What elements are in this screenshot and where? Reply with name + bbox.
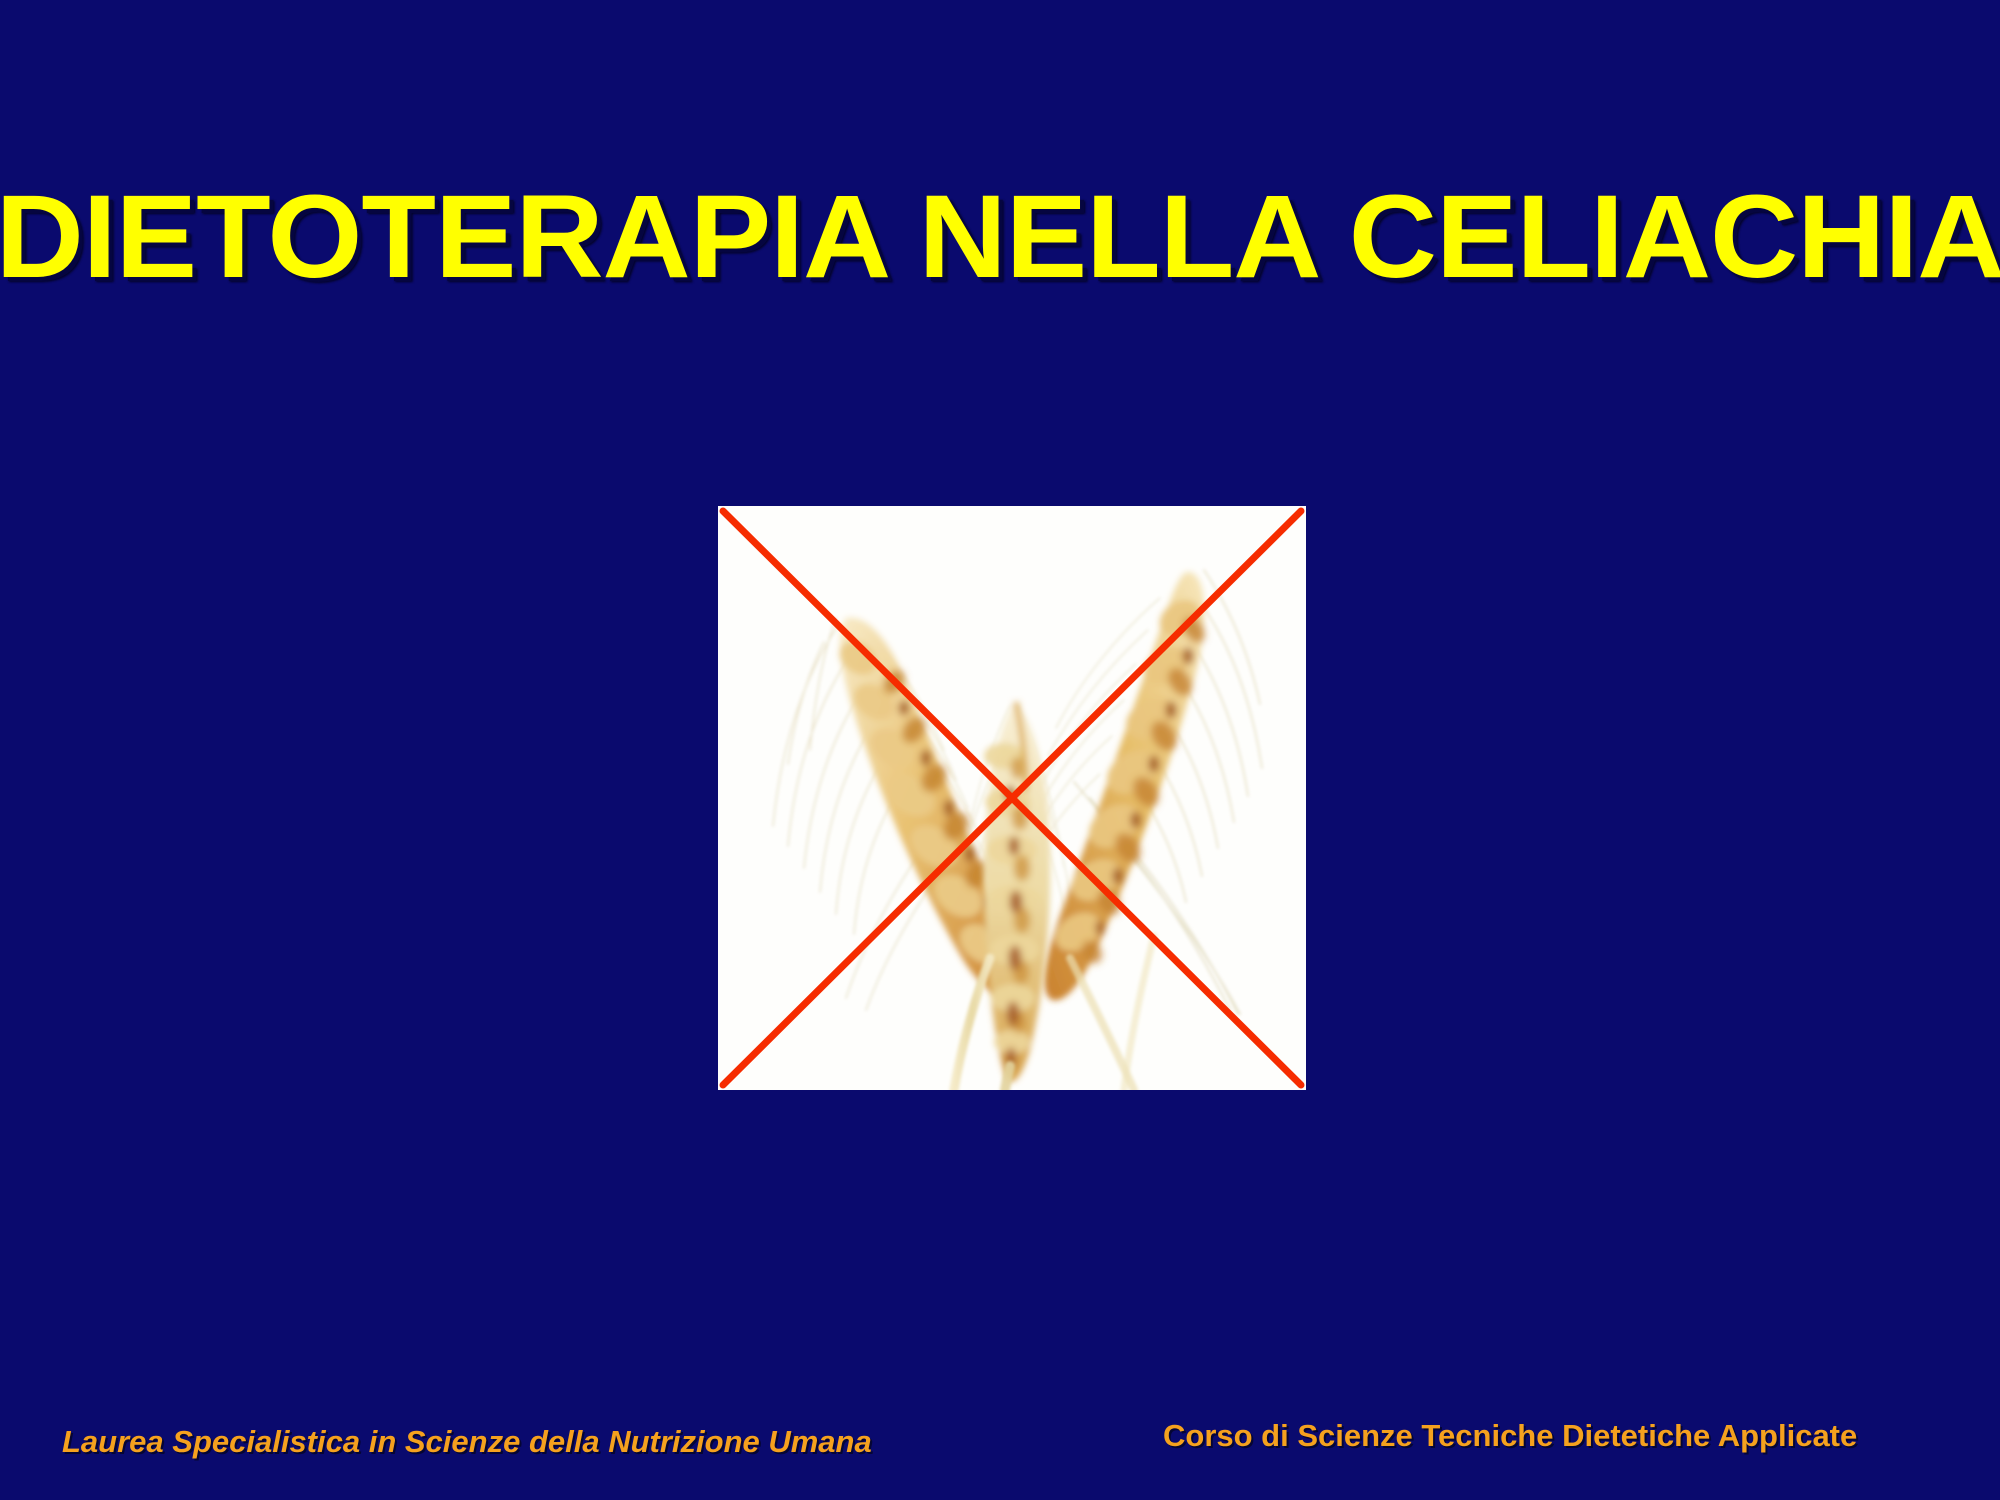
page-title: DIETOTERAPIA NELLA CELIACHIA — [0, 178, 2000, 296]
footer-right-label: Corso di Scienze Tecniche Dietetiche App… — [1163, 1418, 1857, 1454]
wheat-image-frame — [718, 506, 1306, 1090]
wheat-ears-photo — [718, 506, 1306, 1090]
presentation-slide: DIETOTERAPIA NELLA CELIACHIA — [0, 0, 2000, 1500]
footer-left-label: Laurea Specialistica in Scienze della Nu… — [62, 1424, 872, 1460]
